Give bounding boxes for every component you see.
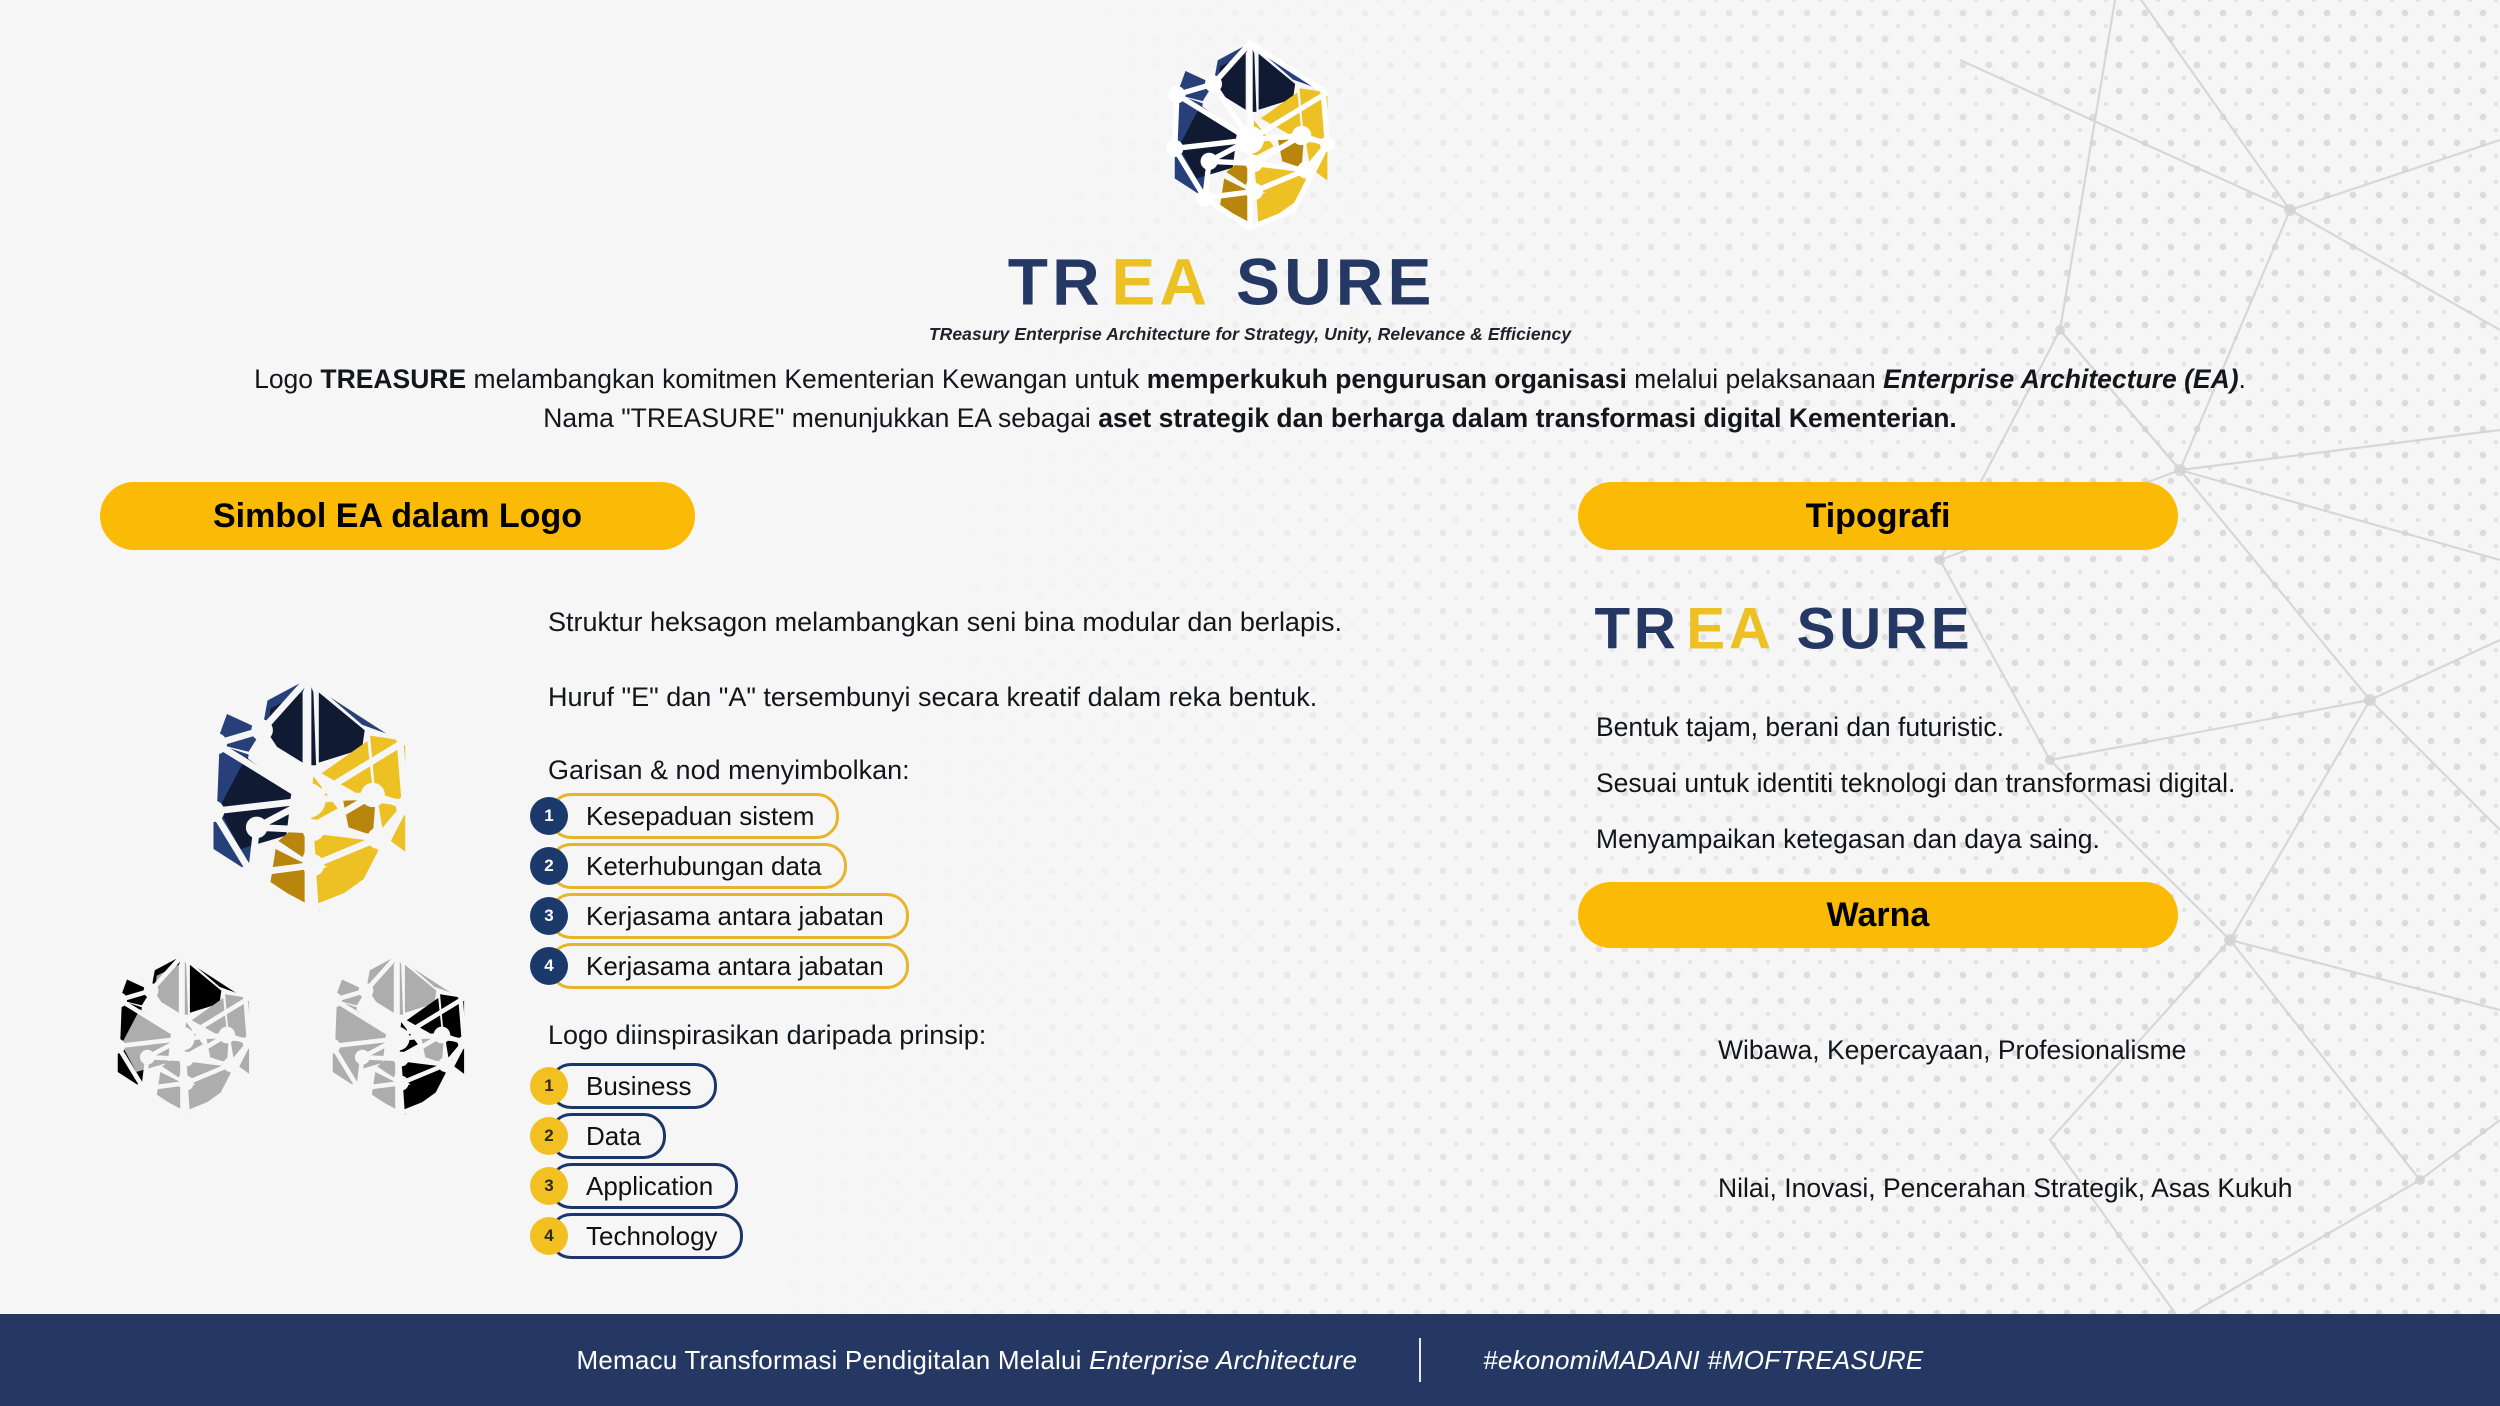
nodes-chip-list: 1 Kesepaduan sistem 2 Keterhubungan data… (530, 795, 909, 995)
principles-list-heading: Logo diinspirasikan daripada prinsip: (548, 1020, 986, 1051)
footer-hashtags: #ekonomiMADANI #MOFTREASURE (1483, 1345, 1923, 1376)
wordmark-post: SURE (1236, 250, 1436, 319)
chip-label: Keterhubungan data (549, 843, 847, 889)
chip-number-badge: 4 (530, 1217, 568, 1255)
section-title-simbol-ea: Simbol EA dalam Logo (100, 482, 695, 550)
list-item[interactable]: 1 Business (530, 1065, 717, 1107)
chip-number-badge: 3 (530, 897, 568, 935)
list-item[interactable]: 2 Keterhubungan data (530, 845, 847, 887)
chip-label: Kerjasama antara jabatan (549, 893, 909, 939)
chip-number-badge: 1 (530, 797, 568, 835)
colour-row-navy: Wibawa, Kepercayaan, Profesionalisme (1578, 1000, 2186, 1100)
wordmark-pre: TR (1008, 250, 1104, 319)
chip-number-badge: 3 (530, 1167, 568, 1205)
list-item[interactable]: 1 Kesepaduan sistem (530, 795, 839, 837)
list-item[interactable]: 3 Application (530, 1165, 738, 1207)
chip-number-badge: 4 (530, 947, 568, 985)
chip-number-badge: 2 (530, 1117, 568, 1155)
simbol-description-line-1: Struktur heksagon melambangkan seni bina… (548, 607, 1342, 638)
chip-label: Kerjasama antara jabatan (549, 943, 909, 989)
hexagon-colour-diagram-icon (168, 660, 448, 930)
typography-description-line-2: Sesuai untuk identiti teknologi dan tran… (1596, 768, 2235, 799)
chip-number-badge: 2 (530, 847, 568, 885)
hexagon-hidden-letter-a-icon (305, 935, 490, 1135)
colour-swatch-navy (1578, 1000, 1678, 1100)
colour-row-yellow: Nilai, Inovasi, Pencerahan Strategik, As… (1578, 1138, 2293, 1238)
section-title-tipografi: Tipografi (1578, 482, 2178, 550)
wordmark-mid: EA (1111, 250, 1211, 319)
footer-slogan: Memacu Transformasi Pendigitalan Melalui… (577, 1345, 1358, 1376)
typography-description-line-3: Menyampaikan ketegasan dan daya saing. (1596, 824, 2100, 855)
simbol-description-line-2: Huruf "E" dan "A" tersembunyi secara kre… (548, 682, 1317, 713)
chip-label: Technology (549, 1213, 743, 1259)
brand-tagline: TReasury Enterprise Architecture for Str… (0, 324, 2500, 345)
chip-label: Business (549, 1063, 717, 1109)
hexagon-hidden-letter-e-icon (90, 935, 275, 1135)
typography-description-line-1: Bentuk tajam, berani dan futuristic. (1596, 712, 2004, 743)
chip-number-badge: 1 (530, 1067, 568, 1105)
list-item[interactable]: 3 Kerjasama antara jabatan (530, 895, 909, 937)
colour-label: Wibawa, Kepercayaan, Profesionalisme (1718, 1035, 2186, 1066)
list-item[interactable]: 4 Kerjasama antara jabatan (530, 945, 909, 987)
hidden-letter-diagrams (90, 935, 510, 1155)
treasure-wordmark: TR EA SURE (0, 250, 2500, 320)
colour-swatch-yellow (1578, 1138, 1678, 1238)
chip-label: Kesepaduan sistem (549, 793, 839, 839)
footer-divider (1419, 1338, 1421, 1382)
nodes-list-heading: Garisan & nod menyimbolkan: (548, 755, 910, 786)
section-title-warna: Warna (1578, 882, 2178, 948)
type-sample-mid: EA (1686, 600, 1774, 661)
intro-line-2: Nama "TREASURE" menunjukkan EA sebagai a… (60, 399, 2440, 438)
type-sample-pre: TR (1594, 600, 1679, 661)
colour-label: Nilai, Inovasi, Pencerahan Strategik, As… (1718, 1173, 2293, 1204)
intro-paragraph: Logo TREASURE melambangkan komitmen Keme… (60, 360, 2440, 438)
typography-sample-wordmark: TR EA SURE (1592, 600, 2026, 662)
hexagon-logo-icon (1125, 28, 1375, 243)
type-sample-post: SURE (1797, 600, 1974, 661)
footer-bar: Memacu Transformasi Pendigitalan Melalui… (0, 1314, 2500, 1406)
intro-line-1: Logo TREASURE melambangkan komitmen Keme… (60, 360, 2440, 399)
list-item[interactable]: 4 Technology (530, 1215, 743, 1257)
chip-label: Application (549, 1163, 738, 1209)
list-item[interactable]: 2 Data (530, 1115, 666, 1157)
principles-chip-list: 1 Business 2 Data 3 Application 4 Techno… (530, 1065, 743, 1265)
brand-logo-block: TR EA SURE TReasury Enterprise Architect… (0, 28, 2500, 345)
